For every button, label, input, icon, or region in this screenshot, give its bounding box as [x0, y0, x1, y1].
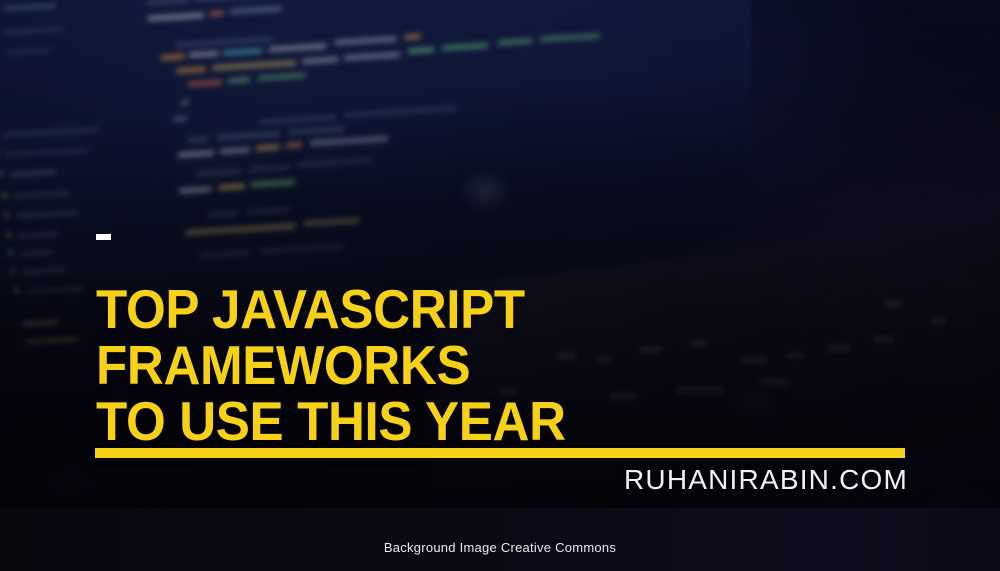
page-title: TOP JAVASCRIPT FRAMEWORKS TO USE THIS YE…	[96, 281, 877, 449]
site-name: RUHANIRABIN.COM	[0, 464, 908, 496]
featured-image-banner: TOP JAVASCRIPT FRAMEWORKS TO USE THIS YE…	[0, 0, 1000, 571]
banner-content: TOP JAVASCRIPT FRAMEWORKS TO USE THIS YE…	[0, 0, 1000, 571]
accent-dash-mark	[96, 234, 111, 240]
image-credit-caption: Background Image Creative Commons	[0, 540, 1000, 555]
accent-divider-rule	[95, 448, 905, 458]
